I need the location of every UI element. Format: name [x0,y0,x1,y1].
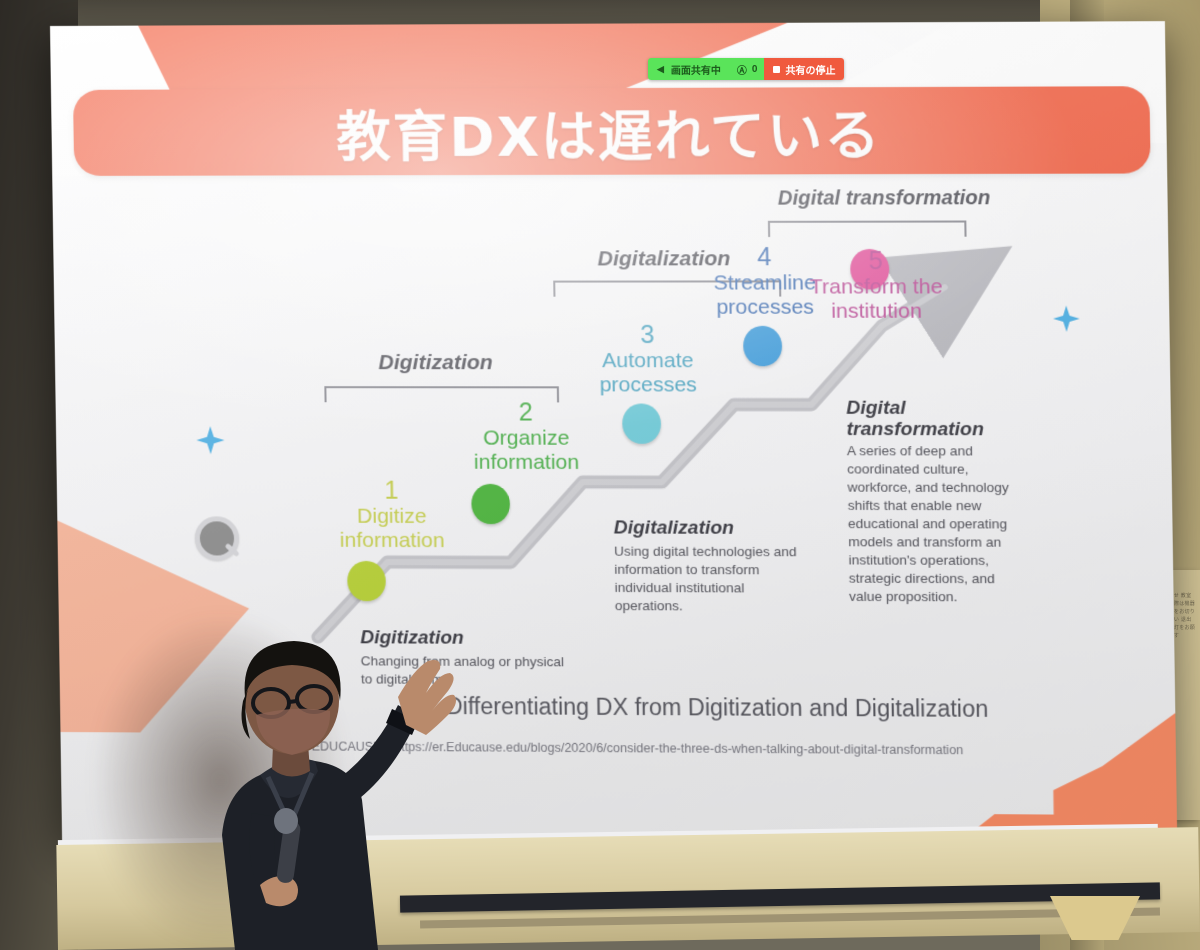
step-label-3: 3 Automate processes [566,321,730,397]
step-title-5-line2: institution [779,299,974,323]
share-status[interactable]: ◀ 画面共有中 [648,58,730,80]
step-number-3: 3 [566,321,729,349]
chevron-left-icon[interactable]: ◀ [657,64,664,75]
step-number-2: 2 [445,398,608,426]
brace-label-digitization: Digitization [378,351,493,375]
step-title-5-line1: Transform the [779,275,974,299]
step-number-1: 1 [316,476,468,504]
definition-body-digital-transformation: A series of deep and coordinated culture… [847,442,1026,606]
definition-body-digitalization: Using digital technologies and informati… [614,543,809,616]
share-mic-group[interactable]: Ⓐ 0 [730,58,765,80]
screen-share-toolbar[interactable]: ◀ 画面共有中 Ⓐ 0 共有の停止 [648,58,844,80]
step-node-3 [622,403,661,443]
definition-digitalization: Digitalization Using digital technologie… [614,515,809,616]
stop-share-label: 共有の停止 [785,62,835,77]
step-label-5: 5 Transform the institution [779,247,975,323]
participant-count: 0 [752,64,758,75]
stop-share-button[interactable]: 共有の停止 [764,58,844,80]
step-node-4 [743,326,782,366]
stop-square-icon [773,66,780,73]
step-number-5: 5 [779,247,974,276]
photo-scene: お知らせ 教室利用の際は機器の電源をお切りください 退出時は消灯をお願いします … [0,0,1200,950]
share-status-label: 画面共有中 [671,62,721,77]
step-label-1: 1 Digitize information [316,476,469,552]
definition-term-digital-transformation: Digital transformation [846,399,1023,441]
brace-label-digital-transformation: Digital transformation [778,187,991,211]
step-title-3-line2: processes [567,373,730,397]
step-title-2-line2: information [445,450,607,474]
brace-digital-transformation [768,220,967,236]
step-title-1-line1: Digitize [316,505,468,529]
step-title-2-line1: Organize [445,426,607,450]
step-label-2: 2 Organize information [445,398,608,474]
presenter-person [140,585,470,950]
step-title-3-line1: Automate [566,349,729,373]
definition-term-digitalization: Digitalization [614,515,808,541]
step-title-1-line2: information [316,528,468,552]
microphone-icon[interactable]: Ⓐ [737,62,747,77]
step-node-2 [471,484,510,524]
definition-digital-transformation: Digital transformation A series of deep … [846,399,1025,607]
